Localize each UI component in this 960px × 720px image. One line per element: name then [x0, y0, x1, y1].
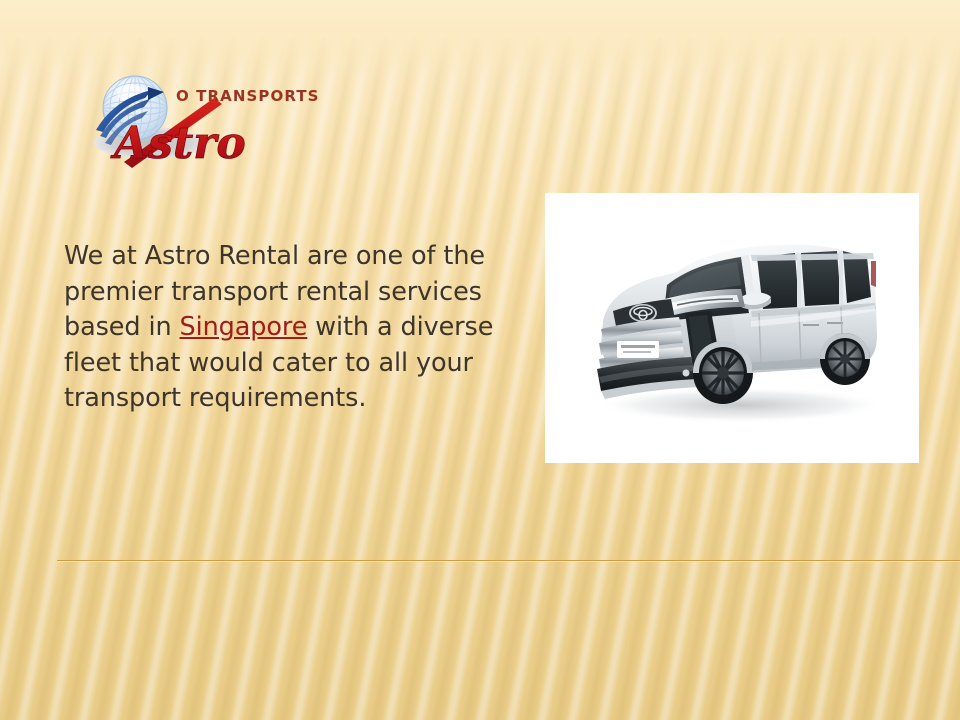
- vehicle-photo-image: [545, 193, 919, 463]
- slide: Astro O TRANSPORTS We at Astro Rental ar…: [0, 0, 960, 720]
- astro-transports-logo[interactable]: Astro: [88, 66, 318, 176]
- svg-text:Astro: Astro: [110, 118, 246, 169]
- singapore-link[interactable]: Singapore: [180, 312, 308, 342]
- logo-wordmark: Astro: [110, 118, 246, 169]
- logo-tagline: O TRANSPORTS: [176, 87, 320, 105]
- vehicle-photo-card[interactable]: [545, 193, 919, 463]
- body-paragraph: We at Astro Rental are one of the premie…: [64, 239, 504, 417]
- license-plate: [617, 341, 659, 358]
- toyota-emblem: [629, 304, 657, 322]
- horizontal-divider: [57, 560, 960, 561]
